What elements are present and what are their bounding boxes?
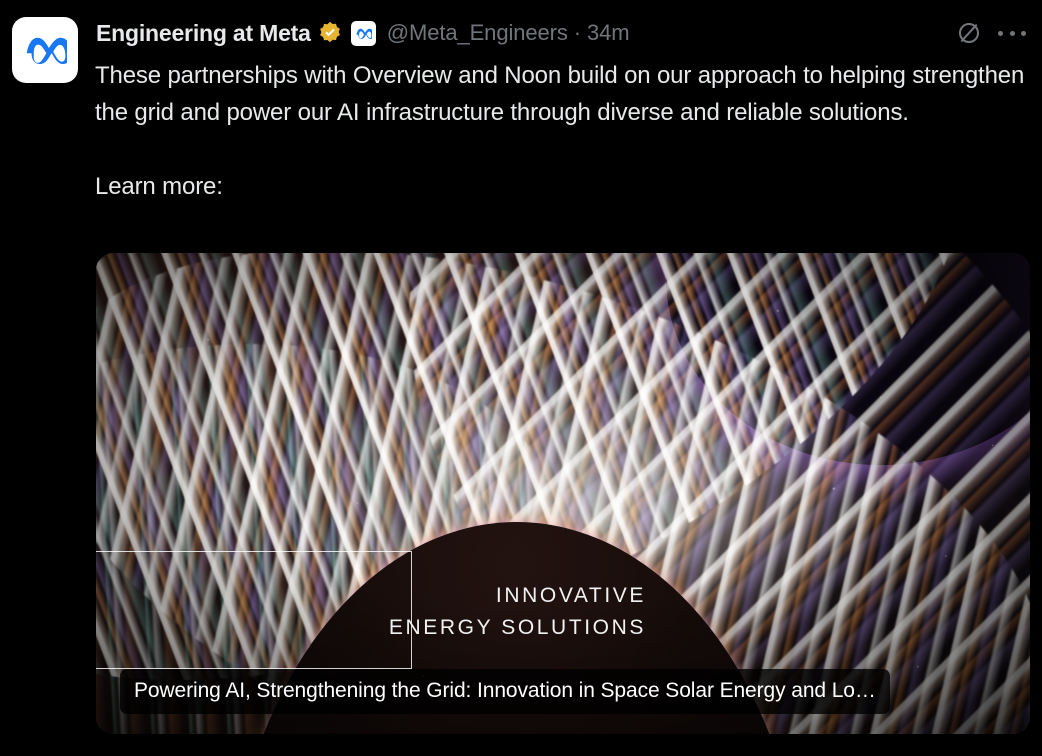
meta-infinity-small-icon: [355, 25, 372, 42]
grok-slashed-circle-icon[interactable]: [956, 20, 982, 46]
tweet-post[interactable]: Engineering at Meta @Meta_Engineers · 34…: [0, 0, 1042, 756]
dot-2: [1010, 31, 1015, 36]
media-caption[interactable]: Powering AI, Strengthening the Grid: Inn…: [120, 669, 890, 714]
post-paragraph-gap: [95, 131, 1030, 168]
meta-affiliate-badge-icon[interactable]: [351, 21, 376, 46]
meta-infinity-logo-icon: [23, 28, 67, 72]
author-display-name[interactable]: Engineering at Meta: [96, 20, 311, 47]
post-header: Engineering at Meta @Meta_Engineers · 34…: [96, 16, 1026, 50]
vignette: [96, 253, 1030, 734]
overlay-line-1: INNOVATIVE: [316, 580, 646, 612]
dot-3: [1021, 31, 1026, 36]
avatar[interactable]: [12, 17, 78, 83]
overlay-wordmark: INNOVATIVE ENERGY SOLUTIONS: [316, 580, 646, 644]
verified-badge-icon[interactable]: [318, 21, 342, 45]
dot-1: [998, 31, 1003, 36]
post-paragraph-1: These partnerships with Overview and Noo…: [95, 57, 1030, 131]
more-options-icon[interactable]: [998, 20, 1026, 46]
overlay-line-2: ENERGY SOLUTIONS: [316, 612, 646, 644]
post-paragraph-2: Learn more:: [95, 168, 1030, 205]
author-handle-and-time[interactable]: @Meta_Engineers · 34m: [387, 20, 630, 46]
post-body-text: These partnerships with Overview and Noo…: [95, 57, 1030, 205]
media-card[interactable]: INNOVATIVE ENERGY SOLUTIONS Powering AI,…: [96, 253, 1030, 734]
